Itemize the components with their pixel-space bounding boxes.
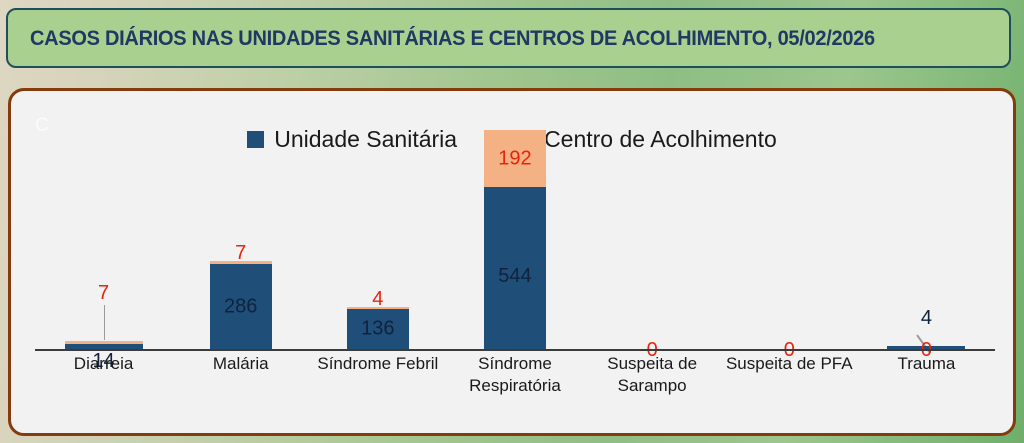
bar-group-trauma[interactable]: 4 0 bbox=[858, 101, 995, 351]
page-title-banner: CASOS DIÁRIOS NAS UNIDADES SANITÁRIAS E … bbox=[6, 8, 1011, 68]
bar-group-sindrome-febril[interactable]: 4 136 bbox=[309, 101, 446, 351]
x-axis-label-line1: Suspeita de PFA bbox=[721, 353, 858, 375]
bars-container: 7 14 7 286 bbox=[35, 101, 995, 351]
chart-panel: C Unidade Sanitária Centro de Acolhiment… bbox=[8, 88, 1016, 436]
bar-segment-sindrome-respiratoria-blue: 544 bbox=[484, 187, 546, 349]
x-axis-label-malaria: Malária bbox=[172, 353, 309, 397]
bar-label-malaria-blue: 286 bbox=[210, 295, 272, 318]
bar-segment-sindrome-febril-blue: 136 bbox=[347, 309, 409, 349]
bar-label-diarreia-orange: 7 bbox=[98, 282, 109, 305]
x-axis-labels: Diarreia Malária Síndrome Febril Síndrom… bbox=[35, 353, 995, 397]
x-axis-label-line1: Trauma bbox=[858, 353, 995, 375]
x-axis-label-line1: Malária bbox=[172, 353, 309, 375]
bar-stack-sindrome-febril: 4 136 bbox=[347, 307, 409, 349]
bar-group-suspeita-de-sarampo[interactable]: 0 bbox=[584, 101, 721, 351]
x-axis-label-line1: Síndrome bbox=[446, 353, 583, 375]
bar-segment-sindrome-respiratoria-orange: 192 bbox=[484, 130, 546, 187]
bar-group-malaria[interactable]: 7 286 bbox=[172, 101, 309, 351]
x-axis-label-line1: Diarreia bbox=[35, 353, 172, 375]
x-axis-label-trauma: Trauma bbox=[858, 353, 995, 397]
x-axis-label-sindrome-respiratoria: Síndrome Respiratória bbox=[446, 353, 583, 397]
bar-leader-diarreia bbox=[104, 305, 106, 340]
bar-stack-malaria: 7 286 bbox=[210, 261, 272, 349]
bar-group-suspeita-de-pfa[interactable]: 0 bbox=[721, 101, 858, 351]
x-axis-label-line1: Suspeita de bbox=[584, 353, 721, 375]
bar-segment-malaria-blue: 286 bbox=[210, 264, 272, 349]
bar-stack-diarreia: 14 bbox=[65, 341, 143, 349]
bar-label-sindrome-febril-blue: 136 bbox=[347, 318, 409, 341]
bar-label-sindrome-respiratoria-orange: 192 bbox=[484, 147, 546, 170]
x-axis-label-sindrome-febril: Síndrome Febril bbox=[309, 353, 446, 397]
bar-label-malaria-orange: 7 bbox=[210, 242, 272, 265]
x-axis-label-suspeita-de-sarampo: Suspeita de Sarampo bbox=[584, 353, 721, 397]
page-title: CASOS DIÁRIOS NAS UNIDADES SANITÁRIAS E … bbox=[30, 26, 875, 51]
bar-stack-sindrome-respiratoria: 192 544 bbox=[484, 130, 546, 349]
bar-label-trauma-blue: 4 bbox=[921, 307, 932, 330]
x-axis-label-line2: Respiratória bbox=[446, 375, 583, 397]
bar-label-sindrome-respiratoria-blue: 544 bbox=[484, 265, 546, 288]
x-axis-label-suspeita-de-pfa: Suspeita de PFA bbox=[721, 353, 858, 397]
x-axis-label-diarreia: Diarreia bbox=[35, 353, 172, 397]
x-axis-label-line2: Sarampo bbox=[584, 375, 721, 397]
x-axis-label-line1: Síndrome Febril bbox=[309, 353, 446, 375]
bar-label-sindrome-febril-orange: 4 bbox=[347, 288, 409, 311]
bar-group-diarreia[interactable]: 7 14 bbox=[35, 101, 172, 351]
bar-group-sindrome-respiratoria[interactable]: 192 544 bbox=[446, 101, 583, 351]
x-axis-line bbox=[35, 349, 995, 351]
